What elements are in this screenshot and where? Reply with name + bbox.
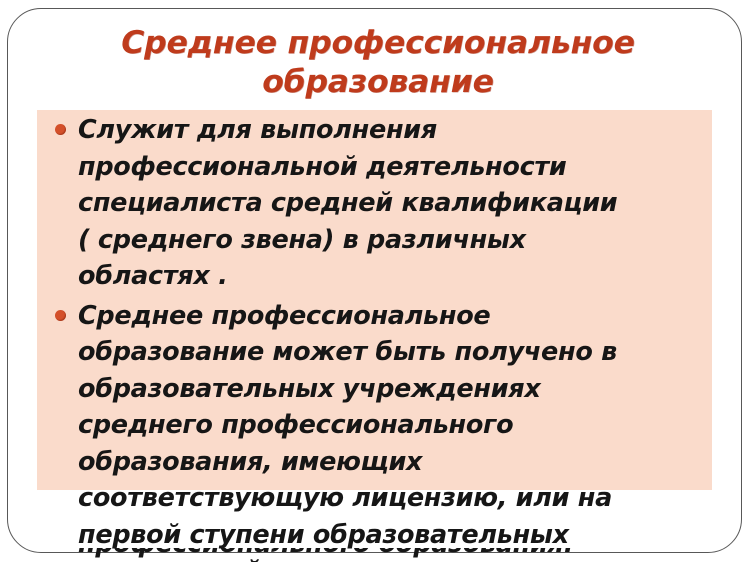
title-line-1: Среднее профессиональное	[60, 24, 696, 63]
presentation-slide: Среднее профессиональное образование Слу…	[0, 0, 750, 562]
bullet-item-2: Среднее профессиональное образование мож…	[37, 298, 737, 562]
round-bullet-icon	[55, 310, 66, 321]
clipped-overflow-text: профессионального образования.	[78, 548, 718, 562]
bullet-item-2-text: Среднее профессиональное образование мож…	[78, 298, 737, 562]
text-line: специалиста средней квалификации	[78, 185, 737, 222]
round-bullet-icon	[55, 124, 66, 135]
bullet-item-1: Служит для выполнения профессиональной д…	[37, 112, 737, 295]
text-line: профессионального образования.	[78, 548, 718, 562]
title-line-2: образование	[60, 63, 696, 102]
text-line: Среднее профессиональное	[78, 298, 737, 335]
text-line: профессиональной деятельности	[78, 149, 737, 186]
text-line: образования, имеющих	[78, 444, 737, 481]
slide-body-text: Служит для выполнения профессиональной д…	[37, 112, 737, 562]
page-title: Среднее профессиональное образование	[60, 24, 696, 102]
text-line: образовательных учреждениях	[78, 371, 737, 408]
text-line: соответствующую лицензию, или на	[78, 480, 737, 517]
text-line: Служит для выполнения	[78, 112, 737, 149]
bullet-item-1-text: Служит для выполнения профессиональной д…	[78, 112, 737, 295]
text-line: среднего профессионального	[78, 407, 737, 444]
text-line: образование может быть получено в	[78, 334, 737, 371]
text-line: ( среднего звена) в различных	[78, 222, 737, 259]
text-line: областях .	[78, 258, 737, 295]
